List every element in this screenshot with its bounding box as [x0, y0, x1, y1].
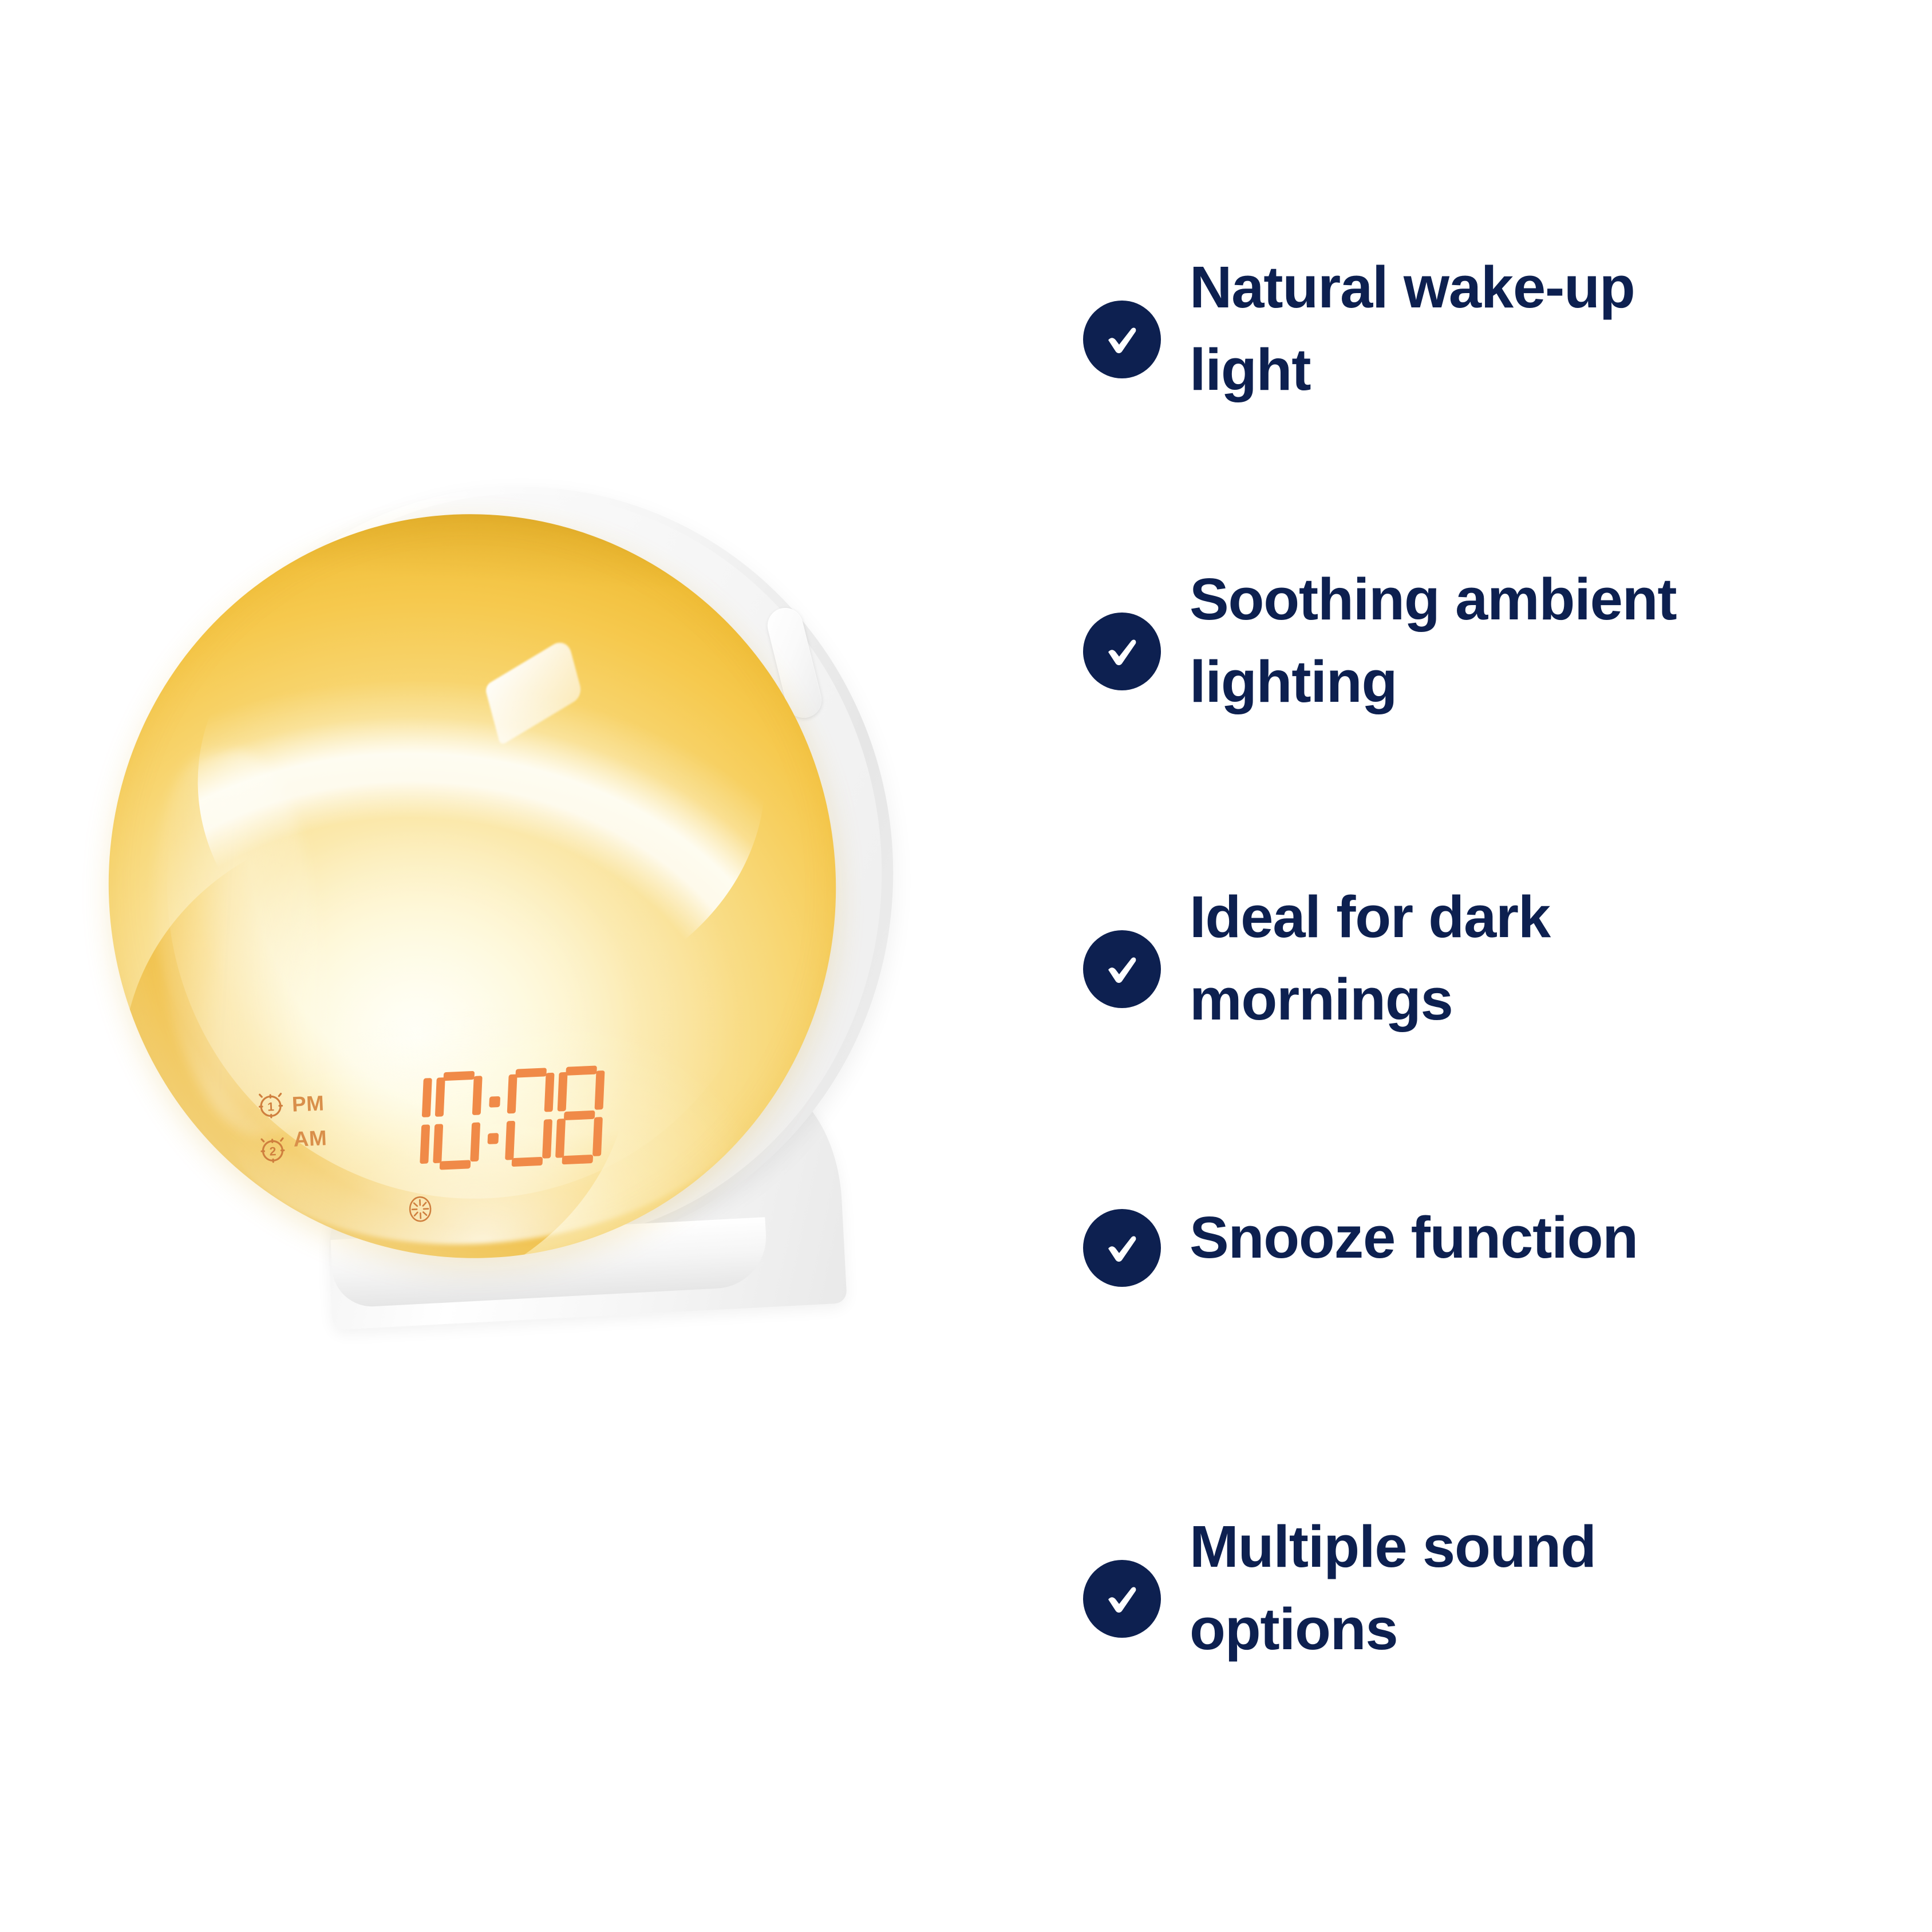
- feature-label: Snooze function: [1190, 1196, 1876, 1279]
- wake-up-light-device: 1 PM: [86, 469, 979, 1431]
- infographic-page: 1 PM: [0, 0, 1932, 1932]
- alarm-clock-2-icon: 2: [256, 1133, 289, 1166]
- alarm-1-row: 1 PM: [254, 1086, 325, 1121]
- alarm-clock-1-icon: 1: [254, 1088, 287, 1121]
- feature-label: Multiple sound options: [1190, 1506, 1876, 1670]
- digit-hour-tens: [381, 1073, 434, 1172]
- feature-label: Ideal for dark mornings: [1190, 876, 1876, 1041]
- pm-indicator-label: PM: [291, 1092, 325, 1115]
- digit-minute-ones: [554, 1065, 607, 1165]
- svg-text:1: 1: [267, 1100, 275, 1114]
- check-mark-icon: [1083, 930, 1161, 1008]
- check-mark-icon: [1083, 613, 1161, 690]
- alarm-indicators: 1 PM: [254, 1085, 378, 1176]
- product-image-area: 1 PM: [0, 0, 1008, 1932]
- digit-hour-ones: [431, 1070, 484, 1170]
- digit-minute-tens: [503, 1068, 556, 1167]
- check-mark-icon: [1083, 1560, 1161, 1638]
- led-display: 1 PM: [254, 1069, 616, 1267]
- am-indicator-label: AM: [293, 1127, 327, 1150]
- feature-list: Natural wake-up light Soothing ambient l…: [1076, 246, 1889, 1712]
- sun-brightness-icon: [402, 1191, 439, 1228]
- svg-text:2: 2: [269, 1145, 276, 1158]
- check-mark-icon: [1083, 301, 1161, 378]
- clock-time-digits: [381, 1065, 607, 1172]
- feature-label: Natural wake-up light: [1190, 246, 1876, 411]
- alarm-2-row: 2 AM: [256, 1131, 328, 1166]
- feature-label: Soothing ambient lighting: [1190, 558, 1876, 723]
- check-mark-icon: [1083, 1209, 1161, 1287]
- clock-colon: [481, 1069, 506, 1168]
